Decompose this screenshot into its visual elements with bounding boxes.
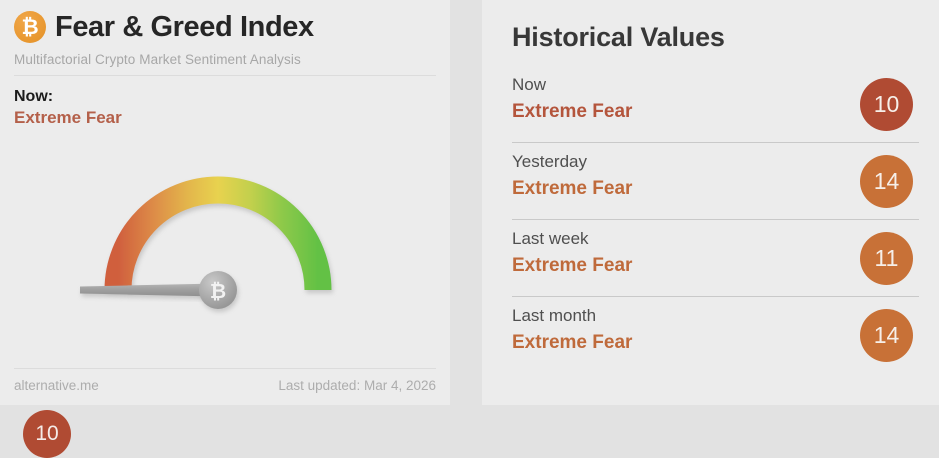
current-value-block: Now: Extreme Fear	[14, 87, 436, 129]
bitcoin-needle-icon: ₿	[210, 279, 226, 303]
panel-header: ₿ Fear & Greed Index	[14, 0, 436, 43]
history-value-badge: 11	[860, 232, 913, 285]
history-value-badge: 14	[860, 309, 913, 362]
history-status: Extreme Fear	[512, 178, 919, 200]
footer-divider	[14, 368, 436, 369]
gauge-needle-group	[80, 284, 218, 297]
history-period: Last month	[512, 297, 919, 326]
panel-gap	[450, 0, 482, 405]
gauge-chart: ₿ 10	[0, 140, 450, 370]
header-divider	[14, 75, 436, 76]
historical-list: Now Extreme Fear 10 Yesterday Extreme Fe…	[512, 66, 919, 374]
now-label: Now:	[14, 87, 436, 107]
history-status: Extreme Fear	[512, 255, 919, 277]
page-subtitle: Multifactorial Crypto Market Sentiment A…	[14, 52, 436, 67]
list-item: Now Extreme Fear 10	[512, 66, 919, 143]
historical-title: Historical Values	[512, 0, 919, 53]
gauge-svg: ₿	[0, 140, 450, 370]
gauge-panel: ₿ Fear & Greed Index Multifactorial Cryp…	[0, 0, 450, 405]
gauge-needle	[80, 284, 218, 297]
page-title: Fear & Greed Index	[55, 13, 314, 42]
fear-greed-widget: ₿ Fear & Greed Index Multifactorial Cryp…	[0, 0, 939, 405]
history-period: Last week	[512, 220, 919, 249]
historical-panel: Historical Values Now Extreme Fear 10 Ye…	[482, 0, 939, 405]
history-status: Extreme Fear	[512, 332, 919, 354]
bitcoin-icon: ₿	[14, 11, 46, 43]
now-status: Extreme Fear	[14, 107, 436, 129]
panel-footer: alternative.me Last updated: Mar 4, 2026	[14, 368, 436, 393]
history-value-badge: 14	[860, 155, 913, 208]
history-period: Now	[512, 66, 919, 95]
list-item: Last week Extreme Fear 11	[512, 220, 919, 297]
gauge-value-badge: 10	[23, 410, 71, 458]
last-updated-label: Last updated: Mar 4, 2026	[278, 378, 436, 393]
history-status: Extreme Fear	[512, 101, 919, 123]
source-label: alternative.me	[14, 378, 99, 393]
history-period: Yesterday	[512, 143, 919, 172]
list-item: Last month Extreme Fear 14	[512, 297, 919, 374]
list-item: Yesterday Extreme Fear 14	[512, 143, 919, 220]
gauge-hub-group: ₿	[199, 271, 237, 309]
history-value-badge: 10	[860, 78, 913, 131]
